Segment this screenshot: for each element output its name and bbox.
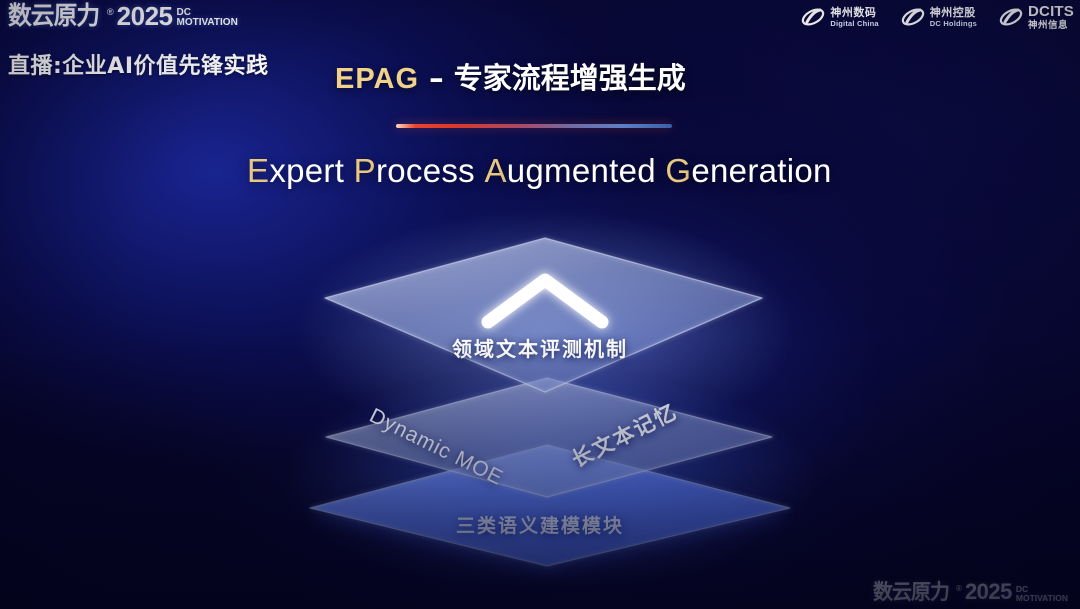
subtitle-rest-2: rocess: [376, 152, 475, 189]
event-logo-cn: 数云原力: [873, 581, 949, 603]
slide-canvas: 领域文本评测机制 Dynamic MOE 长文本记忆 三类语义建模模块 数云原力…: [0, 0, 1080, 609]
subtitle-cap-1: E: [247, 152, 269, 189]
event-logo-motivation: MOTIVATION: [177, 18, 238, 28]
event-logo-motivation: MOTIVATION: [1016, 594, 1068, 603]
partner-logo-dcits: DCITS 神州信息: [999, 4, 1074, 31]
event-logo-footer: 数云原力 ® 2025 DC MOTIVATION: [873, 581, 1068, 603]
event-logo-registered: ®: [107, 8, 114, 17]
partner-name-en: Digital China: [830, 20, 878, 28]
slide-subtitle: Expert Process Augmented Generation: [247, 152, 832, 190]
subtitle-cap-4: G: [665, 152, 691, 189]
title-underline-rule: [396, 124, 672, 128]
slide-main-title: EPAG – 专家流程增强生成: [335, 55, 686, 97]
event-logo-dc-motivation: DC MOTIVATION: [1016, 585, 1068, 602]
swirl-logo-icon: [801, 6, 825, 28]
subtitle-cap-3: A: [484, 152, 506, 189]
layer-label-top: 领域文本评测机制: [0, 333, 1080, 362]
subtitle-rest-1: xpert: [269, 152, 344, 189]
layer-label-dynamic-moe: Dynamic MOE: [365, 404, 507, 491]
swirl-logo-icon: [901, 6, 925, 28]
title-separator: –: [419, 61, 454, 95]
swirl-logo-icon: [999, 6, 1023, 28]
chevron-up-icon: [488, 280, 602, 322]
diagram-layer-top: [325, 238, 762, 392]
subtitle-cap-2: P: [354, 152, 376, 189]
event-logo-dc-motivation: DC MOTIVATION: [177, 8, 238, 28]
event-logo-cn: 数云原力: [8, 3, 99, 29]
event-logo-registered: ®: [956, 584, 962, 593]
partner-name-en: DC Holdings: [930, 20, 977, 28]
live-broadcast-title: 直播:企业AI价值先锋实践: [8, 48, 269, 80]
partner-logo-dc-holdings: 神州控股 DC Holdings: [901, 6, 977, 28]
diagram-layer-bottom: [310, 445, 790, 574]
event-logo-year: 2025: [965, 581, 1012, 603]
title-acronym: EPAG: [335, 63, 419, 95]
partner-name-brand: DCITS: [1028, 4, 1074, 19]
event-logo-header: 数云原力 ® 2025 DC MOTIVATION: [8, 3, 238, 29]
partner-logo-digital-china: 神州数码 Digital China: [801, 6, 878, 28]
subtitle-rest-3: ugmented: [507, 152, 656, 189]
partner-name-cn: 神州信息: [1028, 21, 1074, 31]
partner-name-cn: 神州控股: [930, 7, 977, 18]
partner-logo-group: 神州数码 Digital China 神州控股 DC Holdings DCIT…: [801, 4, 1074, 31]
event-logo-year: 2025: [117, 3, 173, 29]
title-cn: 专家流程增强生成: [454, 61, 686, 95]
subtitle-rest-4: eneration: [691, 152, 831, 189]
partner-name-cn: 神州数码: [830, 7, 878, 18]
layer-label-long-text-memory: 长文本记忆: [566, 396, 682, 474]
layer-label-bottom: 三类语义建模模块: [0, 511, 1080, 538]
